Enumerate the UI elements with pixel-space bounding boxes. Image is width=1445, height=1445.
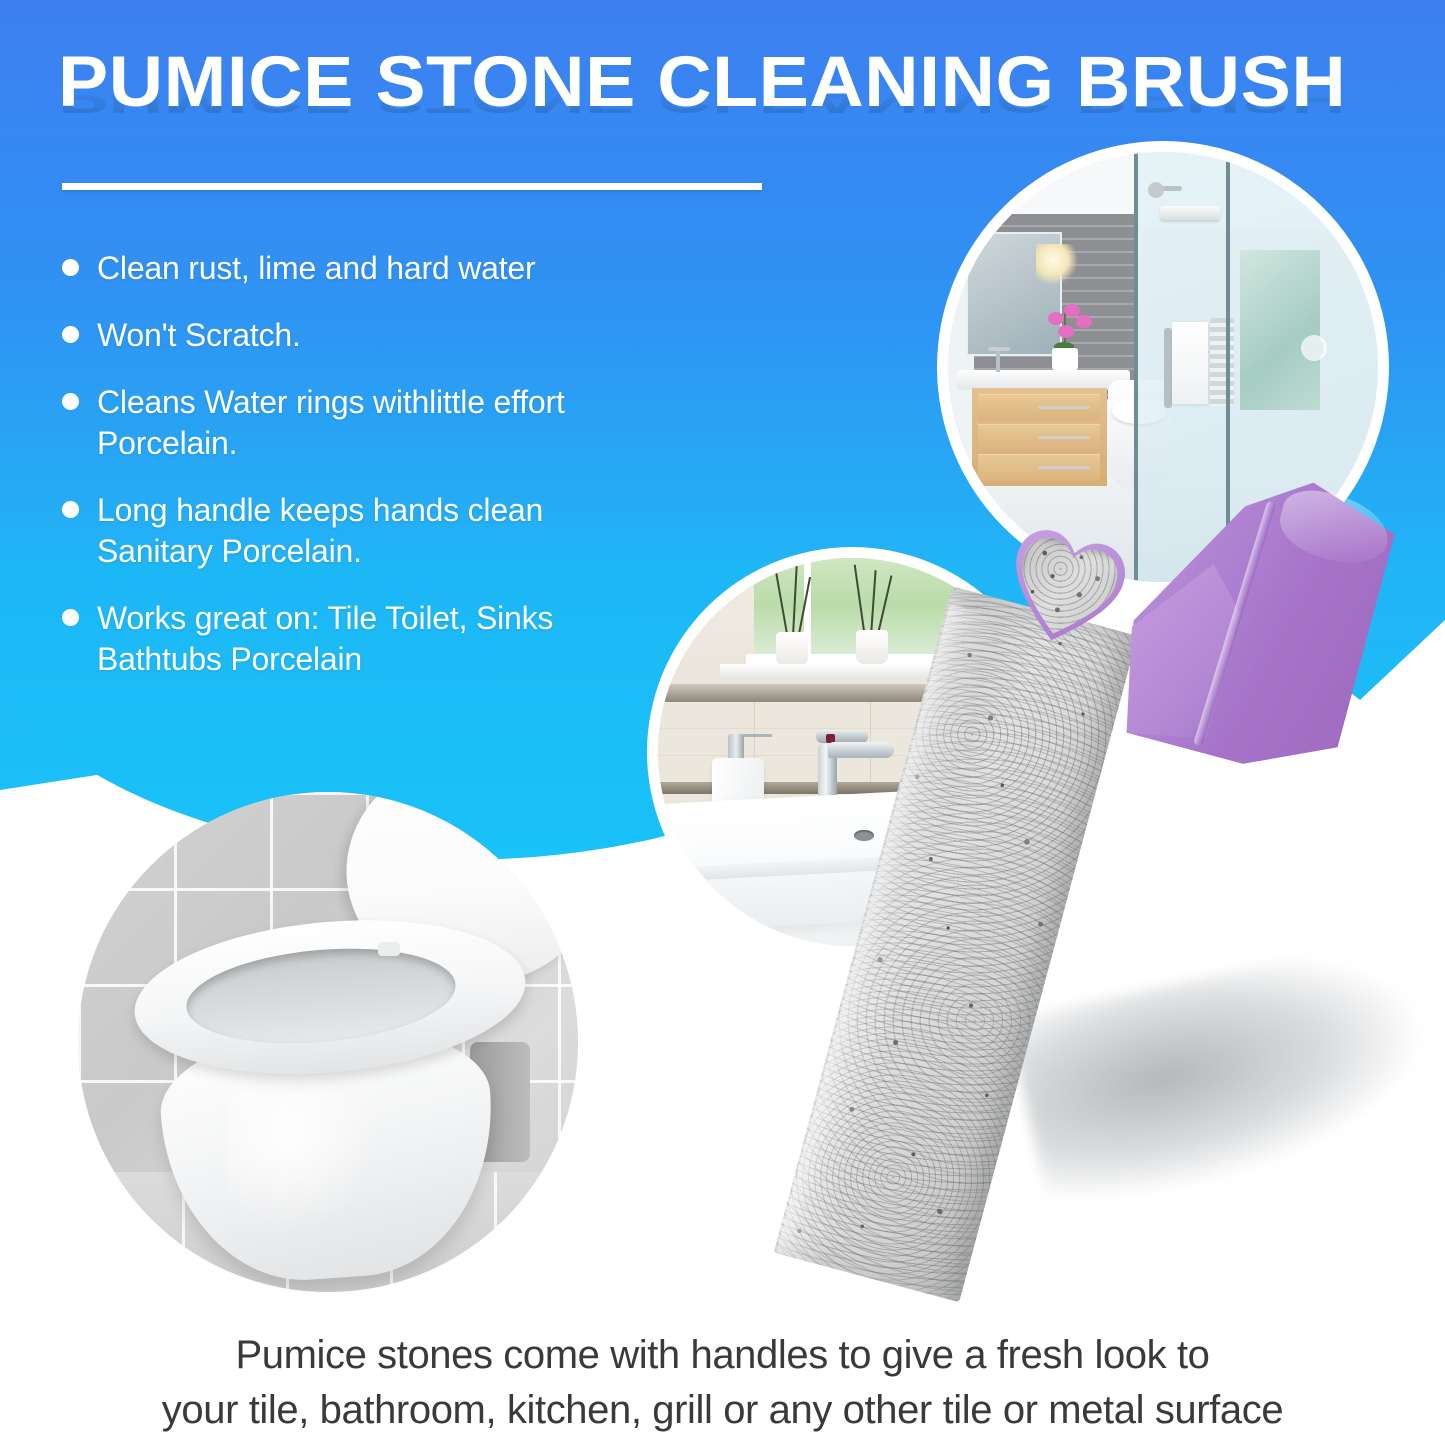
footer-caption: Pumice stones come with handles to give …: [40, 1328, 1405, 1438]
vanity-light: [1036, 244, 1078, 284]
bullet-dot-icon: [62, 393, 79, 410]
orchid-flower: [1058, 325, 1074, 338]
list-item: Clean rust, lime and hard water: [62, 248, 722, 289]
page-title: PUMICE STONE CLEANING BRUSH: [58, 44, 1394, 122]
bowl-highlight: [228, 1092, 378, 1232]
feature-text: Cleans Water rings withlittle effort Por…: [97, 382, 565, 464]
potted-plant: [856, 630, 888, 664]
photo-toilet: [78, 792, 578, 1292]
feature-text: Long handle keeps hands clean Sanitary P…: [97, 490, 543, 572]
vanity-faucet: [996, 350, 1000, 372]
soap-pump: [728, 734, 744, 760]
towel-rail: [1164, 328, 1172, 408]
faucet-spout: [828, 742, 894, 758]
orchid-flower: [1048, 312, 1064, 325]
feature-text: Won't Scratch.: [97, 315, 301, 356]
feature-list: Clean rust, lime and hard water Won't Sc…: [62, 248, 722, 706]
orchid-pot: [1052, 348, 1078, 372]
bullet-dot-icon: [62, 609, 79, 626]
infographic-canvas: PUMICE STONE CLEANING BRUSH PUMICE STONE…: [0, 0, 1445, 1445]
overflow-drain: [854, 830, 874, 841]
orchid-flower: [1076, 315, 1092, 328]
potted-plant: [776, 632, 808, 666]
list-item: Works great on: Tile Toilet, Sinks Batht…: [62, 598, 722, 680]
toilet-scene: [78, 792, 578, 1292]
bullet-dot-icon: [62, 259, 79, 276]
product-image: [905, 415, 1445, 1315]
list-item: Long handle keeps hands clean Sanitary P…: [62, 490, 722, 572]
list-item: Won't Scratch.: [62, 315, 722, 356]
white-towel: [1172, 322, 1208, 404]
bullet-dot-icon: [62, 501, 79, 518]
list-item: Cleans Water rings withlittle effort Por…: [62, 382, 722, 464]
shower-wall-tile: [1240, 250, 1320, 410]
title-divider: [62, 183, 762, 190]
orchid-flower: [1064, 304, 1080, 317]
bullet-dot-icon: [62, 326, 79, 343]
seat-hinge: [378, 942, 400, 956]
soap-nozzle: [742, 734, 772, 737]
shower-door-handle: [1304, 338, 1324, 358]
rain-shower-head: [1160, 206, 1220, 220]
shower-valve-knob: [1148, 182, 1164, 198]
drawer-handle: [1038, 406, 1090, 409]
product-drop-shadow: [1009, 936, 1442, 1215]
feature-text: Clean rust, lime and hard water: [97, 248, 535, 289]
purple-handle: [1105, 447, 1402, 787]
feature-text: Works great on: Tile Toilet, Sinks Batht…: [97, 598, 553, 680]
heated-towel-radiator: [1210, 318, 1234, 406]
marble-countertop: [958, 370, 1130, 390]
page-title-block: PUMICE STONE CLEANING BRUSH PUMICE STONE…: [58, 44, 1318, 164]
